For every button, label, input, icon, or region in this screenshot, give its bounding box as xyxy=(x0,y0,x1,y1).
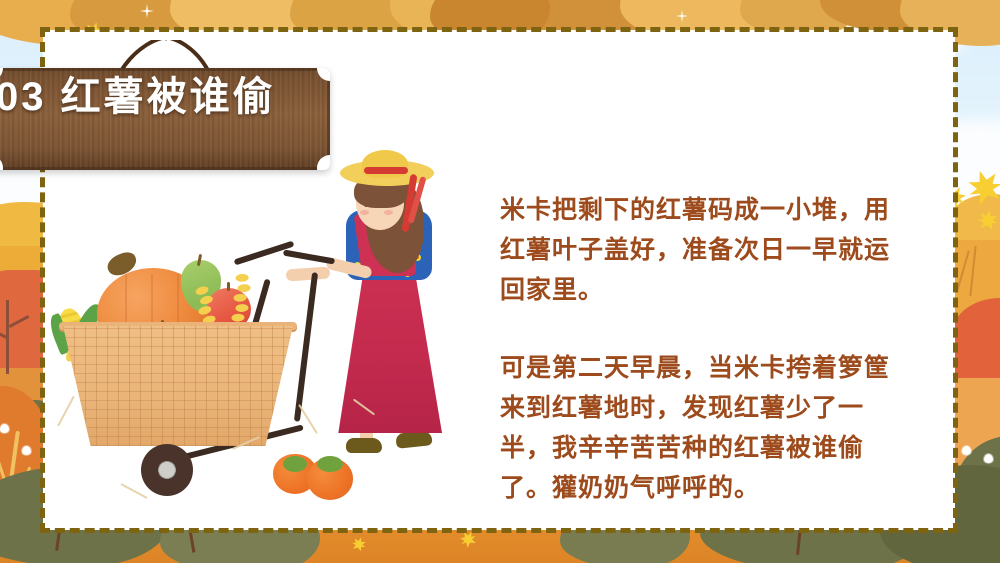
persimmon-calyx xyxy=(317,456,343,472)
harvest-illustration xyxy=(55,150,475,515)
body-text-block: 米卡把剩下的红薯码成一小堆，用红薯叶子盖好，准备次日一早就运回家里。 可是第二天… xyxy=(500,190,910,508)
cheek-blush xyxy=(360,210,369,215)
slide-canvas: 03 红薯被谁偷 xyxy=(0,0,1000,563)
hay-strand xyxy=(57,396,75,427)
red-overall-dress xyxy=(334,253,442,433)
hat-band xyxy=(364,167,408,174)
wildflower-icon xyxy=(962,446,971,455)
wheat-grain xyxy=(199,295,213,305)
cheek-blush xyxy=(384,210,393,215)
persimmon-calyx xyxy=(283,456,307,472)
maple-leaf-icon xyxy=(457,528,479,550)
wheat-grain xyxy=(231,313,245,322)
basket-weave-texture xyxy=(63,326,293,446)
cart-leg xyxy=(294,272,318,422)
wheel-hub xyxy=(159,462,175,478)
apple-stem xyxy=(227,282,230,291)
wheat-grain xyxy=(195,286,209,296)
hay-strand xyxy=(120,483,147,499)
wildflower-icon xyxy=(22,446,31,455)
paragraph-2: 可是第二天早晨，当米卡挎着箩筐来到红薯地时，发现红薯少了一半，我辛辛苦苦种的红薯… xyxy=(500,348,910,508)
paragraph-1: 米卡把剩下的红薯码成一小堆，用红薯叶子盖好，准备次日一早就运回家里。 xyxy=(500,190,910,310)
wheat-grain xyxy=(237,283,251,292)
wildflower-icon xyxy=(984,454,993,463)
wheat-grain xyxy=(198,306,212,316)
wheat-grain xyxy=(235,303,249,312)
maple-leaf-icon xyxy=(350,535,368,553)
basket-body xyxy=(63,326,293,446)
shoe xyxy=(346,438,382,453)
page-title: 03 红薯被谁偷 xyxy=(0,42,330,144)
wheat-grain xyxy=(233,293,247,302)
wheat-grain xyxy=(235,273,249,282)
wildflower-icon xyxy=(0,424,9,433)
hill-layer xyxy=(0,202,46,246)
plaque-notch xyxy=(0,160,2,170)
